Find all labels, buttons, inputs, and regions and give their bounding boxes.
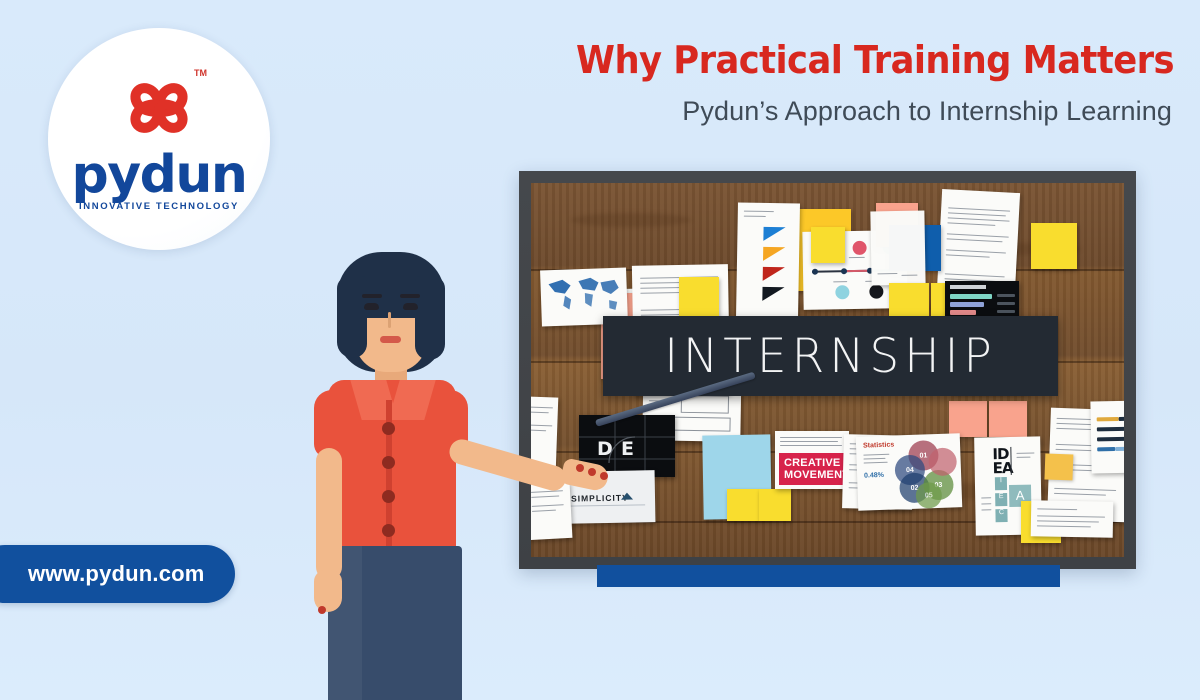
creative-movement-sheet: CREATIVE MOVEMENT <box>775 431 849 489</box>
sleeve-left <box>314 390 354 458</box>
nose <box>388 312 391 328</box>
trademark-symbol: TM <box>194 68 207 78</box>
small-note-sheet <box>870 211 925 286</box>
venn-circle-overlay <box>928 447 957 476</box>
fingernail <box>318 606 326 614</box>
shirt-button <box>382 456 395 469</box>
board-accent-bar <box>597 565 1060 587</box>
arm-left <box>316 448 342 580</box>
salmon-sticky-note <box>949 401 987 437</box>
internship-banner-text: INTERNSHIP <box>664 329 997 384</box>
eye-left <box>364 303 379 310</box>
website-url-badge[interactable]: www.pydun.com <box>0 545 235 603</box>
hair-left-side <box>337 276 367 358</box>
statistics-infographic: Statistics 0.48% 01 04 02 03 05 <box>856 433 963 511</box>
statistics-title: Statistics <box>863 442 894 450</box>
hair-right-side <box>415 276 445 360</box>
eye-right <box>403 303 418 310</box>
pydun-knot-icon: TM <box>113 66 205 150</box>
salmon-sticky-note <box>989 401 1027 437</box>
bar-chart-sheet <box>1090 401 1124 474</box>
page-subtitle: Pydun’s Approach to Internship Learning <box>482 96 1172 127</box>
lips <box>380 336 401 343</box>
yellow-sticky-note <box>679 277 719 319</box>
text-document-bottom-right <box>1031 500 1114 537</box>
shirt-button <box>382 524 395 537</box>
venn-circle-05: 05 <box>915 482 942 509</box>
fingernail <box>600 472 608 480</box>
yellow-sticky-note <box>811 227 845 263</box>
eyebrow-left <box>362 294 382 298</box>
logo-wordmark: pydun <box>72 152 247 200</box>
hand-left <box>314 570 342 612</box>
arm-right <box>447 436 569 493</box>
brand-logo: TM pydun INNOVATIVE TECHNOLOGY <box>48 28 270 250</box>
logo-tagline: INNOVATIVE TECHNOLOGY <box>79 201 239 212</box>
presenter-illustration <box>300 250 630 700</box>
yellow-sticky-note <box>1031 223 1077 269</box>
internship-banner: INTERNSHIP <box>603 316 1058 396</box>
page-title: Why Practical Training Matters <box>532 38 1174 82</box>
fingernail <box>576 464 584 472</box>
poster-canvas: TM pydun INNOVATIVE TECHNOLOGY Why Pract… <box>0 0 1200 700</box>
yellow-sticky-note <box>727 489 759 521</box>
shirt-button <box>382 490 395 503</box>
shirt-button <box>382 422 395 435</box>
arrow-chart-sheet <box>736 202 800 319</box>
yellow-sticky-note <box>759 489 791 521</box>
fingernail <box>588 468 596 476</box>
eyebrow-right <box>400 294 420 298</box>
